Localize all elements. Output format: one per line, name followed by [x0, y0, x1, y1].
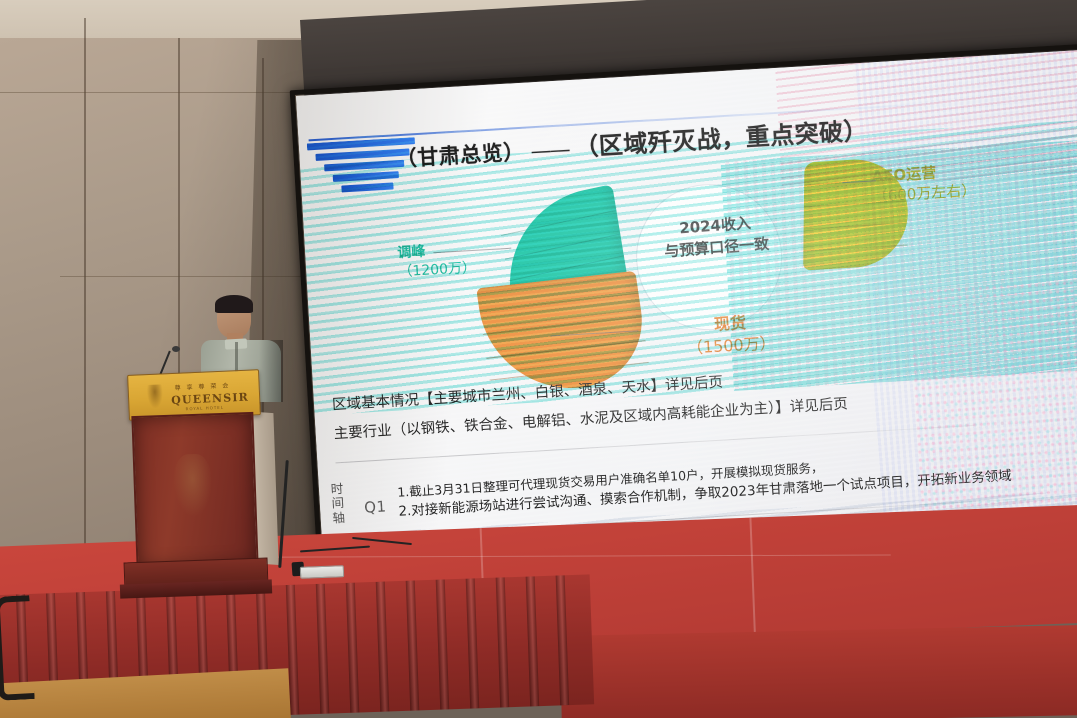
- power-strip: [300, 565, 344, 579]
- speaker-hair: [215, 295, 253, 313]
- callout-xianhuo: 现货 （1500万）: [640, 308, 822, 362]
- podium-body: [131, 412, 258, 570]
- chair-back: [0, 595, 35, 701]
- timeline-quarter-q1: Q1: [364, 497, 387, 516]
- stage-seam: [191, 554, 891, 557]
- callout-tiaofeng: 调峰 （1200万）: [397, 240, 477, 282]
- stage-seam: [749, 518, 756, 636]
- conference-room-photo: （甘肃总览）——（区域歼灭战，重点突破）: [0, 0, 1077, 718]
- podium-emblem: [173, 453, 213, 516]
- podium-brand-cn: 尊 享 尊 荣 会: [174, 380, 230, 391]
- slide-title-dash: ——: [524, 137, 575, 164]
- callout-aeo: AEO运营 （600万左右）: [871, 160, 977, 206]
- podium-brand-sub: ROYAL HOTEL: [185, 405, 224, 412]
- slide-title-left: （甘肃总览）: [395, 140, 525, 171]
- stage-front-right: [560, 624, 1077, 718]
- podium-crest-icon: [147, 384, 164, 409]
- callout-tiaofeng-value: （1200万）: [398, 259, 477, 282]
- podium: 尊 享 尊 荣 会 QUEENSIR ROYAL HOTEL: [128, 372, 276, 604]
- microphone-head: [172, 346, 180, 352]
- timeline-axis-label: 时间轴: [329, 482, 347, 526]
